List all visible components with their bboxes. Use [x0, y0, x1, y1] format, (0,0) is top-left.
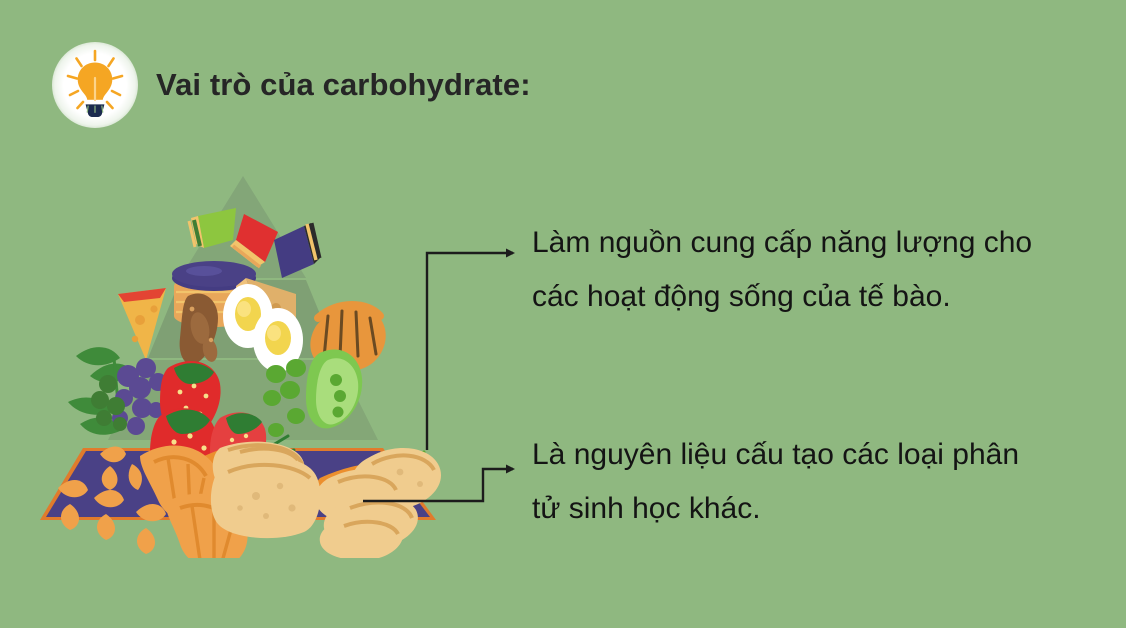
sandwich-blue	[274, 223, 320, 278]
callout-energy: Làm nguồn cung cấp năng lượng cho các ho…	[532, 216, 1087, 324]
slide-canvas: Vai trò của carbohydrate:	[0, 0, 1126, 628]
callout-energy-line-1: Làm nguồn cung cấp năng lượng cho	[532, 216, 1087, 270]
arrow-head-2	[506, 465, 515, 474]
callout-building-blocks-line-1: Là nguyên liệu cấu tạo các loại phân	[532, 428, 1087, 482]
callout-building-blocks-line-2: tử sinh học khác.	[532, 482, 1087, 536]
page-title: Vai trò của carbohydrate:	[156, 67, 531, 103]
arrow-head-1	[506, 249, 515, 258]
lightbulb-glyph	[52, 42, 138, 128]
food-pyramid-graphic	[28, 168, 458, 558]
slide-header: Vai trò của carbohydrate:	[52, 42, 531, 128]
food-pyramid-illustration	[28, 168, 458, 558]
lightbulb-icon	[52, 42, 138, 128]
callout-energy-line-2: các hoạt động sống của tế bào.	[532, 270, 1087, 324]
callout-building-blocks: Là nguyên liệu cấu tạo các loại phân tử …	[532, 428, 1087, 536]
tier-grains-group	[58, 442, 441, 558]
